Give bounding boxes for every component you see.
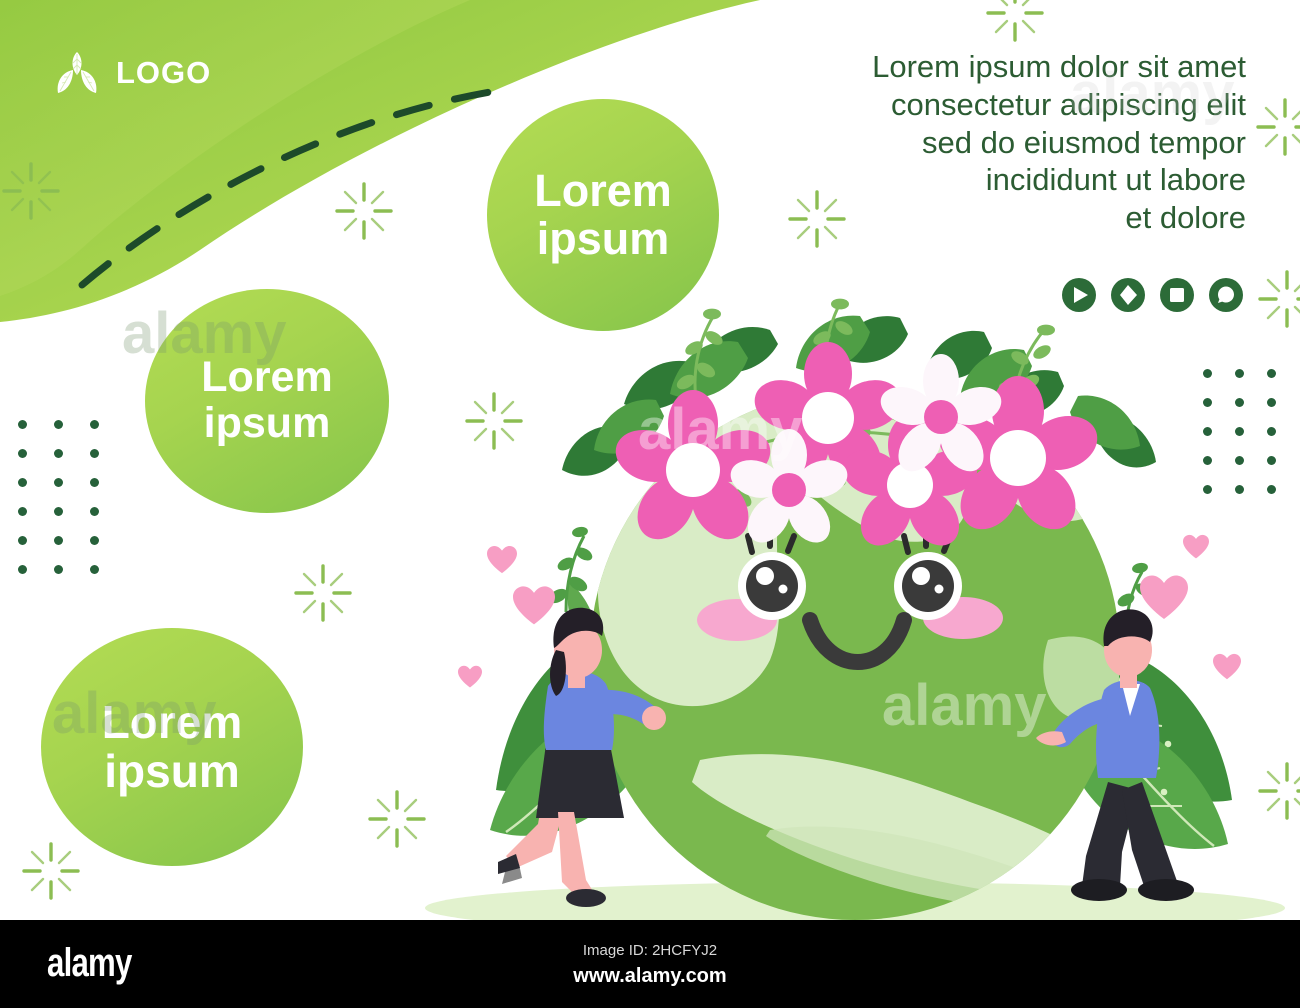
heart-icon [458,665,482,694]
heart-icon [513,585,555,632]
leaf-sprig-icon [52,46,102,98]
heart-icon [1183,534,1209,565]
heart-icon [1213,653,1241,686]
heart-icon [487,545,517,580]
earth-illustration-scene [0,0,1300,920]
poster-canvas: LOGO Lorem ipsum dolor sit amet consecte… [0,0,1300,920]
alamy-footer-bar: alamy Image ID: 2HCFYJ2 www.alamy.com [0,920,1300,1008]
woman-hand [642,706,666,730]
heart-icon [1140,574,1188,627]
logo-text: LOGO [116,57,211,88]
man-shoe-back [1071,879,1127,901]
footer-url[interactable]: www.alamy.com [0,965,1300,988]
woman-shoe-front [566,889,606,907]
footer-image-id: Image ID: 2HCFYJ2 [0,942,1300,959]
woman-skirt [536,744,624,818]
brand-logo[interactable]: LOGO [52,46,211,98]
man-shoe-front [1138,879,1194,901]
